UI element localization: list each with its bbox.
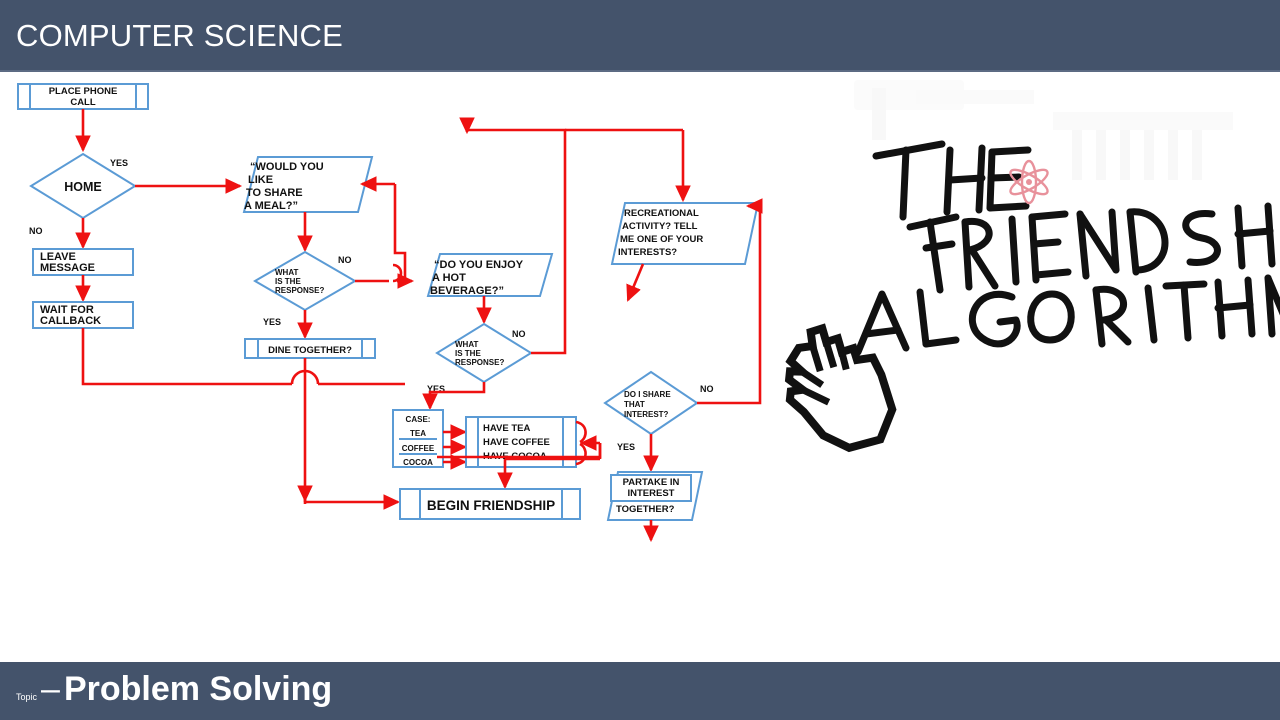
edge-label-interest-no: NO [700,384,714,394]
friendship-algorithm-flowchart: .bx { fill:#ffffff; stroke:#5b9bd5; stro… [0,72,800,542]
slide-header-bar: COMPUTER SCIENCE [0,0,1280,72]
node-hot-beverage: “DO YOU ENJOY A HOT BEVERAGE?” [428,254,552,297]
svg-text:“WOULD YOU: “WOULD YOU [250,161,324,173]
svg-text:ME ONE OF YOUR: ME ONE OF YOUR [620,234,703,245]
slide: COMPUTER SCIENCE [0,0,1280,720]
edge-label-interest-yes: YES [617,442,635,452]
svg-text:PLACE PHONE: PLACE PHONE [49,86,118,97]
footer-dash: – [37,670,64,708]
svg-text:RESPONSE?: RESPONSE? [275,286,324,295]
svg-text:DO I SHARE: DO I SHARE [624,390,671,399]
svg-text:INTERESTS?: INTERESTS? [618,247,677,258]
svg-text:RECREATIONAL: RECREATIONAL [624,208,699,219]
title-word-algorithm [858,276,1280,352]
edge-label-meal-yes: YES [263,317,281,327]
footer-topic-value: Problem Solving [64,670,332,708]
svg-text:IS THE: IS THE [275,277,301,286]
slide-footer-bar: Topic–Problem Solving [0,662,1280,720]
footer-topic-label: Topic [16,692,37,702]
node-case-selector: CASE: TEA COFFEE COCOA [393,410,443,467]
svg-text:CALL: CALL [70,97,96,108]
svg-text:HAVE COFFEE: HAVE COFFEE [483,437,550,448]
svg-text:COFFEE: COFFEE [402,444,435,453]
node-begin-friendship: BEGIN FRIENDSHIP [400,489,580,519]
svg-text:HAVE TEA: HAVE TEA [483,423,530,434]
footer-topic: Topic–Problem Solving [16,670,332,709]
svg-text:MESSAGE: MESSAGE [40,262,95,274]
node-leave-message: LEAVE MESSAGE [33,249,133,275]
title-word-friendship [910,202,1280,290]
edge-label-beverage-no: NO [512,329,526,339]
svg-text:TOGETHER?: TOGETHER? [616,504,675,515]
svg-text:“DO YOU ENJOY: “DO YOU ENJOY [434,259,524,271]
svg-text:THAT: THAT [624,400,645,409]
title-word-the [876,144,1028,217]
svg-text:BEGIN FRIENDSHIP: BEGIN FRIENDSHIP [427,498,555,513]
svg-text:WE DO THAT: WE DO THAT [618,491,678,502]
edge-label-home-yes: YES [110,158,128,168]
slide-body: .bx { fill:#ffffff; stroke:#5b9bd5; stro… [0,72,1280,662]
node-do-that-together: “WHY DON’T WE DO THAT TOGETHER? [608,472,702,520]
svg-text:ACTIVITY? TELL: ACTIVITY? TELL [622,221,698,232]
svg-text:IS THE: IS THE [455,349,481,358]
svg-text:TEA: TEA [410,429,426,438]
node-recreational: RECREATIONAL ACTIVITY? TELL ME ONE OF YO… [612,203,758,264]
friendship-algorithm-artwork [760,72,1280,542]
svg-text:CASE:: CASE: [406,415,431,424]
svg-text:RESPONSE?: RESPONSE? [455,358,504,367]
svg-text:LIKE: LIKE [248,174,273,186]
svg-text:CALLBACK: CALLBACK [40,315,101,327]
page-title: COMPUTER SCIENCE [16,18,343,54]
node-dine-together: DINE TOGETHER? [245,339,375,358]
svg-text:WHAT: WHAT [275,268,299,277]
handwritten-title [858,144,1280,352]
svg-text:“WHY DON’T: “WHY DON’T [620,478,679,489]
edge-label-meal-no: NO [338,255,352,265]
svg-text:TO SHARE: TO SHARE [246,187,303,199]
node-share-interest: DO I SHARE THAT INTEREST? [605,372,697,434]
svg-text:DINE TOGETHER?: DINE TOGETHER? [268,345,352,356]
svg-text:A HOT: A HOT [432,272,466,284]
svg-text:WHAT: WHAT [455,340,479,349]
edge-label-home-no: NO [29,226,43,236]
svg-text:BEVERAGE?”: BEVERAGE?” [430,285,504,297]
atom-icon [1007,161,1050,203]
svg-text:INTEREST?: INTEREST? [624,410,669,419]
node-wait-for-callback: WAIT FOR CALLBACK [33,302,133,328]
svg-text:HOME: HOME [64,180,102,194]
node-share-a-meal: “WOULD YOU LIKE TO SHARE A MEAL?” [244,157,372,212]
svg-text:COCOA: COCOA [403,458,433,467]
pixel-hand-cursor-icon [781,320,897,455]
node-place-phone-call: PLACE PHONE CALL [18,84,148,109]
svg-text:A MEAL?”: A MEAL?” [244,200,298,212]
